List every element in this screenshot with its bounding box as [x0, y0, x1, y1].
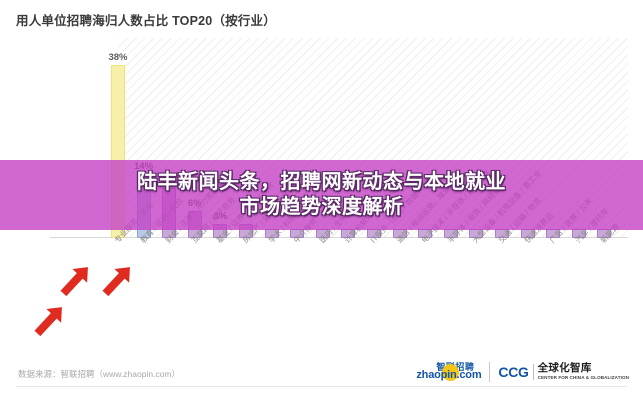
- arrow-professional-services: [26, 298, 72, 344]
- overlay-headline-line1: 陆丰新闻头条，招聘网新动态与本地就业: [137, 171, 506, 194]
- zhaopin-logo-en: zhaopin.com: [416, 370, 481, 381]
- overlay-banner: 陆丰新闻头条，招聘网新动态与本地就业 市场趋势深度解析: [0, 160, 643, 230]
- page-title: 用人单位招聘海归人数占比 TOP20（按行业）: [16, 10, 276, 29]
- footer-divider: [16, 386, 627, 387]
- chart-page: 用人单位招聘海归人数占比 TOP20（按行业） 38%14%11%6%3% 专业…: [0, 0, 643, 400]
- arrow-internet-ecommerce: [94, 258, 140, 304]
- bar-value-label: 38%: [108, 52, 127, 63]
- data-source-note: 数据来源：智联招聘（www.zhaopin.com）: [18, 368, 180, 380]
- arrow-education-training: [52, 258, 98, 304]
- footer-logos: 智联招聘 zhaopin.com CCG 全球化智库 CENTER FOR CH…: [416, 362, 629, 382]
- overlay-headline-line2: 市场趋势深度解析: [240, 196, 404, 219]
- logo-divider: [489, 362, 490, 382]
- ccg-logo-cn: 全球化智库: [538, 363, 629, 374]
- ccg-logo-mark: CCG: [498, 365, 528, 379]
- zhaopin-logo: 智联招聘 zhaopin.com: [416, 363, 481, 381]
- ccg-logo-en: CENTER FOR CHINA & GLOBALIZATION: [538, 376, 629, 381]
- ccg-logo: CCG 全球化智库 CENTER FOR CHINA & GLOBALIZATI…: [498, 363, 629, 380]
- ccg-logo-text: 全球化智库 CENTER FOR CHINA & GLOBALIZATION: [538, 363, 629, 380]
- ccg-logo-rule: [533, 364, 534, 380]
